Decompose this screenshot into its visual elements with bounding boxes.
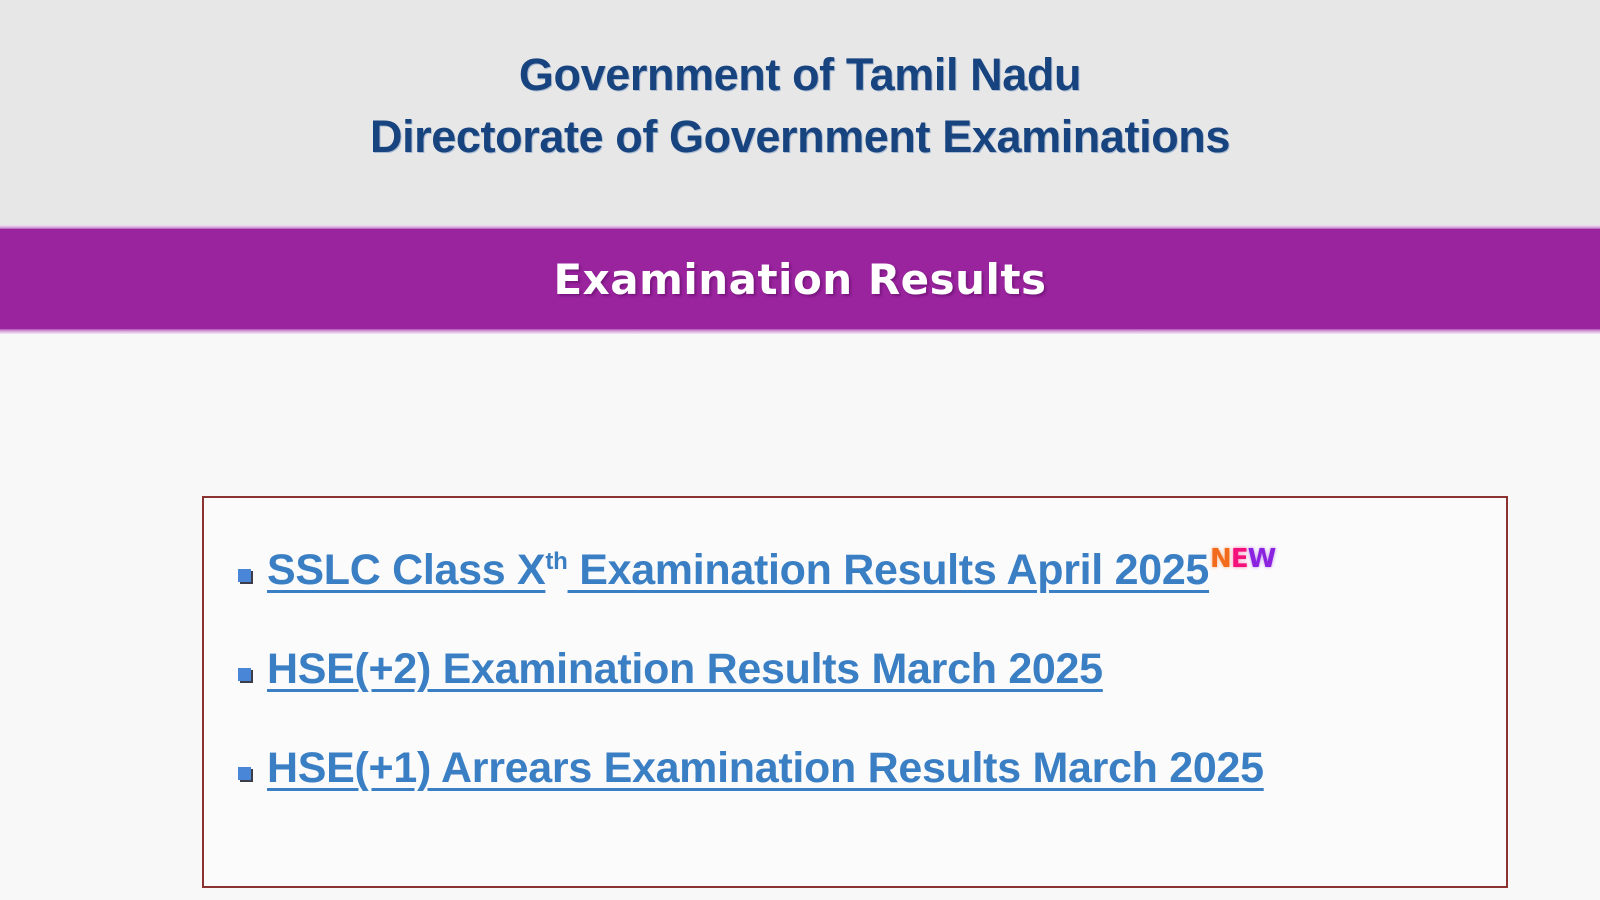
result-link-hse-plus-1-arrears[interactable]: HSE(+1) Arrears Examination Results Marc… <box>267 744 1264 792</box>
new-badge-char-n: N <box>1210 544 1231 574</box>
result-link-sslc-class-x[interactable]: SSLC Class Xth Examination Results April… <box>267 546 1209 594</box>
site-header: Government of Tamil Nadu Directorate of … <box>0 0 1600 225</box>
list-item: HSE(+2) Examination Results March 2025 <box>238 648 1506 691</box>
square-bullet-icon <box>238 668 251 681</box>
results-link-list: SSLC Class Xth Examination Results April… <box>204 546 1506 790</box>
ordinal-superscript: th <box>545 550 567 574</box>
list-item: SSLC Class Xth Examination Results April… <box>238 546 1506 592</box>
result-link-hse-plus-2[interactable]: HSE(+2) Examination Results March 2025 <box>267 645 1103 693</box>
banner-title: Examination Results <box>553 255 1046 304</box>
results-links-box: SSLC Class Xth Examination Results April… <box>202 496 1508 888</box>
square-bullet-icon <box>238 767 251 780</box>
new-badge-char-e: E <box>1231 544 1248 574</box>
new-badge-char-w: W <box>1248 544 1276 574</box>
header-title-line-2: Directorate of Government Examinations <box>0 106 1600 168</box>
result-link-text-after: Examination Results April 2025 <box>568 546 1210 594</box>
list-item: HSE(+1) Arrears Examination Results Marc… <box>238 747 1506 790</box>
header-title-line-1: Government of Tamil Nadu <box>0 44 1600 106</box>
new-badge-icon: NEW <box>1210 546 1275 572</box>
page-content: SSLC Class Xth Examination Results April… <box>0 334 1600 888</box>
examination-results-banner: Examination Results <box>0 225 1600 334</box>
result-link-text-before: SSLC Class X <box>267 546 545 594</box>
banner-bar: Examination Results <box>0 229 1600 329</box>
square-bullet-icon <box>238 569 251 582</box>
